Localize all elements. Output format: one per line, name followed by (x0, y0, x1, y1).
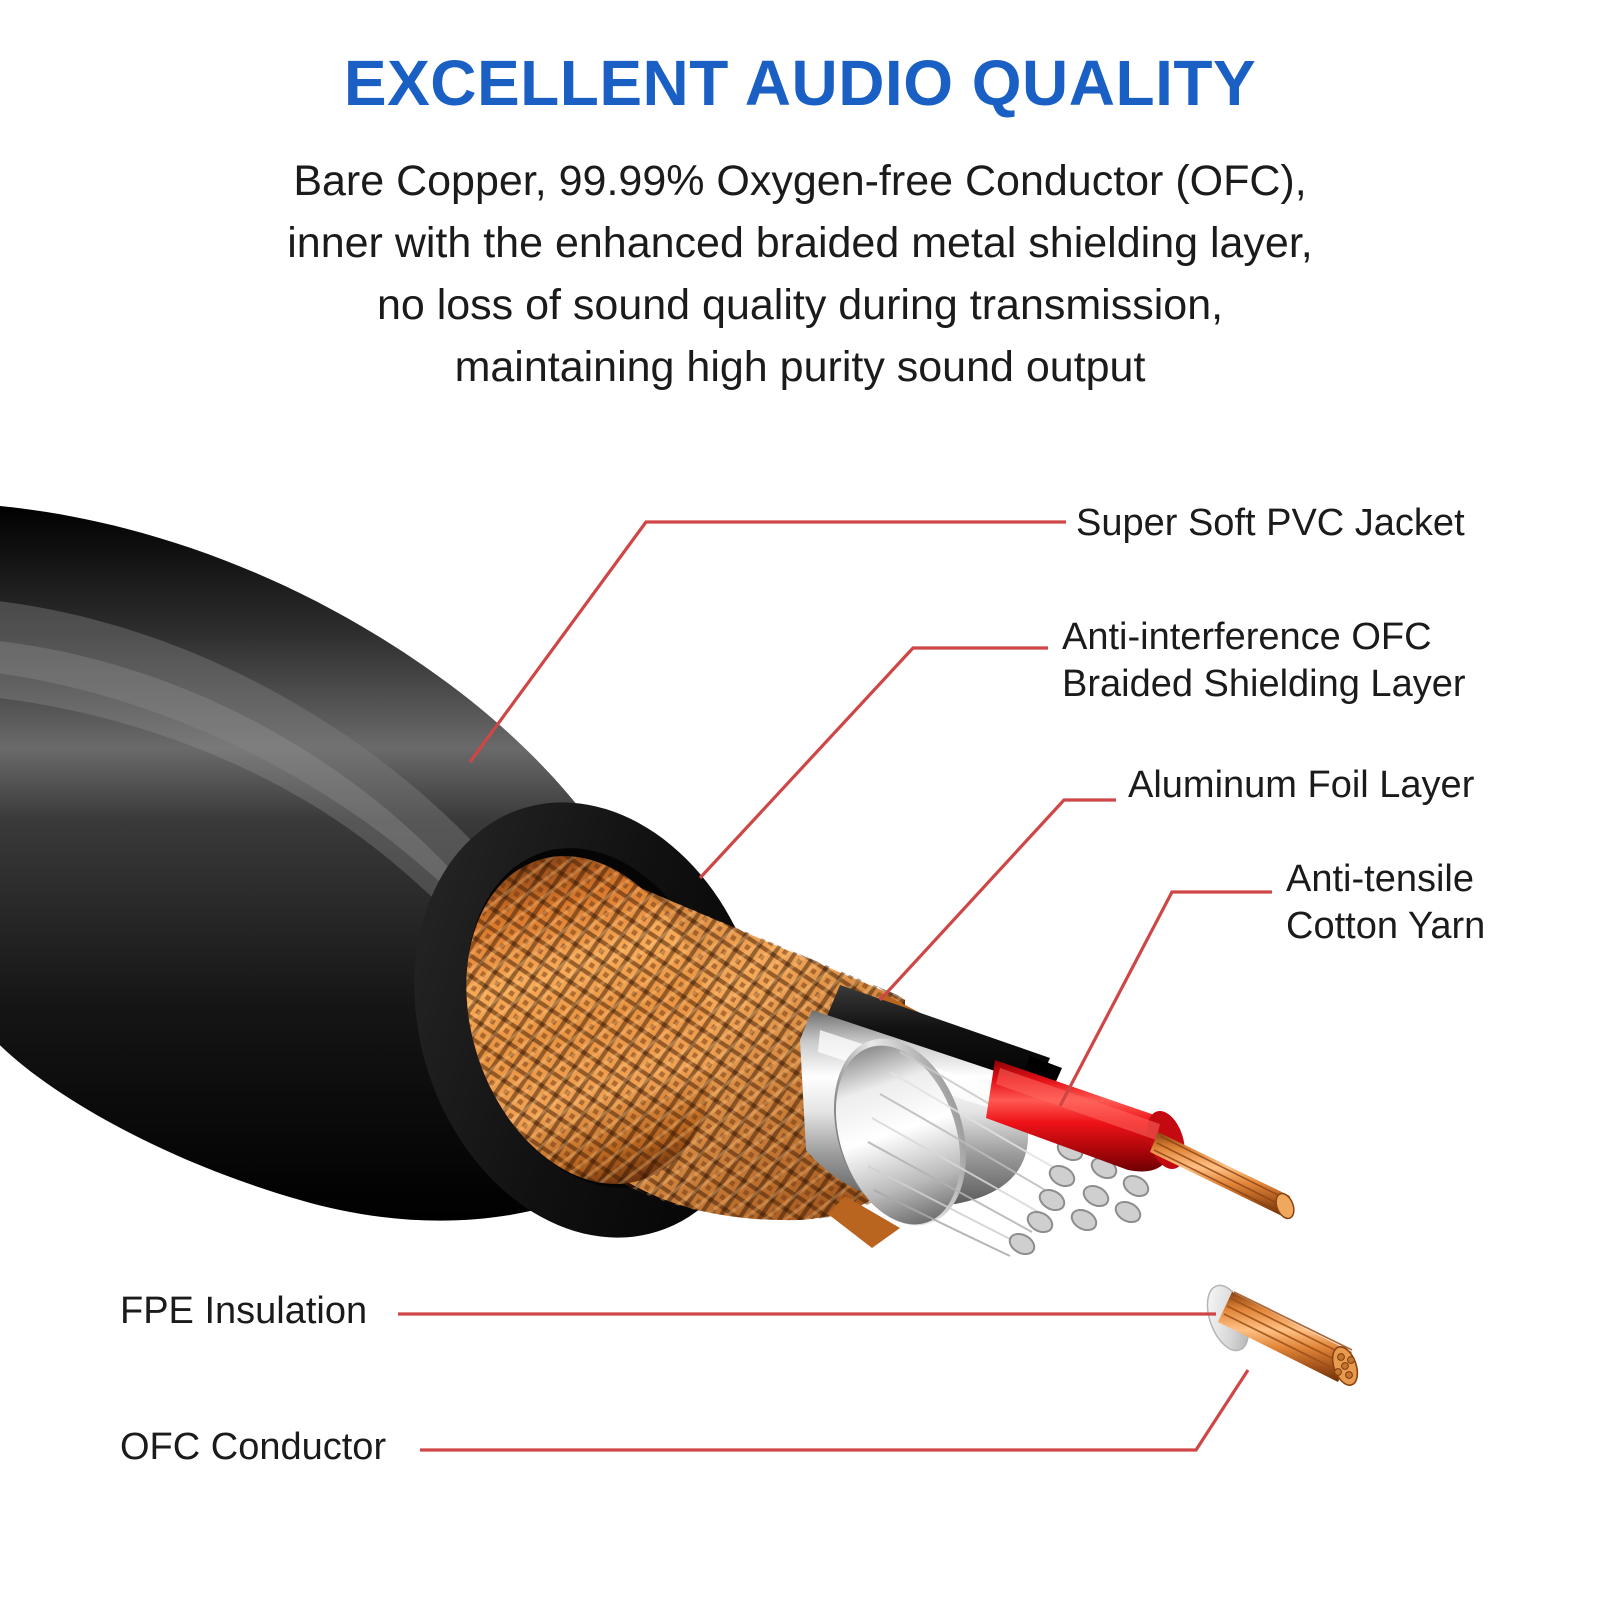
callout-label-braid-shield: Anti-interference OFC Braided Shielding … (1062, 614, 1466, 708)
leader-ofc-conductor (420, 1370, 1248, 1450)
callout-label-pvc-jacket: Super Soft PVC Jacket (1076, 500, 1465, 547)
callout-label-braid-shield-line1: Anti-interference OFC (1062, 614, 1466, 661)
wire-copper-strands (1150, 1132, 1297, 1221)
callout-label-ofc-conductor: OFC Conductor (120, 1424, 386, 1471)
ofc-conductor-sample (1199, 1280, 1362, 1389)
callout-label-fpe-insulation: FPE Insulation (120, 1288, 367, 1335)
red-insulated-wire (986, 1060, 1297, 1221)
leader-cotton-yarn (1060, 892, 1272, 1106)
leader-pvc-jacket (470, 522, 1066, 762)
callout-label-cotton-yarn: Anti-tensile Cotton Yarn (1286, 856, 1485, 950)
callout-label-cotton-yarn-line2: Cotton Yarn (1286, 903, 1485, 950)
leader-aluminum-foil (880, 800, 1116, 1000)
callout-label-aluminum-foil: Aluminum Foil Layer (1128, 762, 1474, 809)
leader-braid-shield (700, 648, 1048, 878)
callout-label-cotton-yarn-line1: Anti-tensile (1286, 856, 1485, 903)
infographic-canvas: EXCELLENT AUDIO QUALITY Bare Copper, 99.… (0, 0, 1600, 1600)
callout-label-braid-shield-line2: Braided Shielding Layer (1062, 661, 1466, 708)
